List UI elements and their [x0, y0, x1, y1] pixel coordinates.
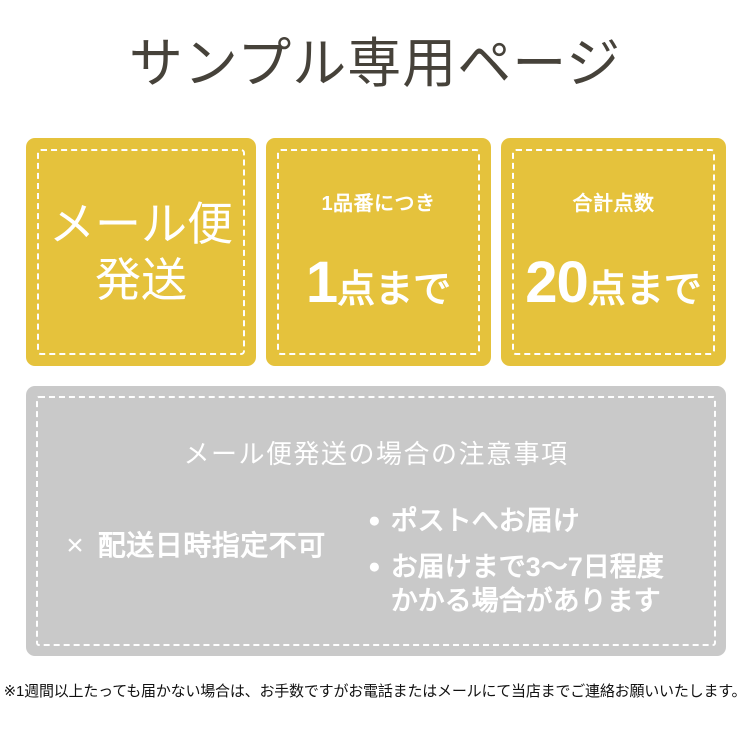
- card-shipping-method: メール便 発送: [26, 138, 256, 366]
- notice-bullet-list: ● ポストへお届け ● お届けまで3〜7日程度 かかる場合があります: [366, 504, 726, 618]
- notice-panel-title: メール便発送の場合の注意事項: [26, 438, 726, 470]
- bullet-dot-icon: ●: [368, 550, 381, 584]
- card-shipping-method-line2: 発送: [49, 252, 233, 308]
- card-total-limit-number: 20: [525, 254, 588, 312]
- notice-restriction-text: 配送日時指定不可: [98, 529, 326, 563]
- card-per-item-limit-heading: 1品番につき: [321, 192, 435, 216]
- card-total-limit-amount: 20 点まで: [525, 254, 702, 312]
- notice-bullet-text: お届けまで3〜7日程度 かかる場合があります: [391, 550, 664, 618]
- card-per-item-limit-amount: 1 点まで: [306, 254, 451, 312]
- notice-bullet-text: ポストへお届け: [391, 504, 580, 538]
- notice-bullet-line1: ポストへお届け: [391, 506, 580, 536]
- notice-bullet-line2: かかる場合があります: [391, 584, 664, 618]
- card-per-item-limit-unit: 点まで: [337, 271, 451, 309]
- notice-panel-body: × 配送日時指定不可 ● ポストへお届け ● お届けまで3〜7日程度 かかる場合…: [26, 504, 726, 618]
- info-cards-row: メール便 発送 1品番につき 1 点まで 合計点数 20 点まで: [26, 138, 726, 366]
- sample-shipping-banner: サンプル専用ページ メール便 発送 1品番につき 1 点まで 合計点数 20 点…: [0, 0, 750, 750]
- card-per-item-limit-number: 1: [306, 254, 337, 312]
- x-mark-icon: ×: [66, 531, 84, 561]
- card-total-limit-unit: 点まで: [588, 271, 702, 309]
- bullet-dot-icon: ●: [368, 504, 381, 538]
- card-total-limit-heading: 合計点数: [573, 192, 655, 216]
- card-shipping-method-line1: メール便: [49, 198, 233, 250]
- card-per-item-limit: 1品番につき 1 点まで: [266, 138, 491, 366]
- notice-panel: メール便発送の場合の注意事項 × 配送日時指定不可 ● ポストへお届け ● お届…: [26, 386, 726, 656]
- card-shipping-method-text: メール便 発送: [49, 196, 233, 308]
- footer-note: ※1週間以上たっても届かない場合は、お手数ですがお電話またはメールにて当店までご…: [0, 682, 750, 702]
- page-title: サンプル専用ページ: [0, 33, 750, 95]
- notice-bullet-line1: お届けまで3〜7日程度: [391, 552, 664, 582]
- card-total-limit: 合計点数 20 点まで: [501, 138, 726, 366]
- notice-restriction: × 配送日時指定不可: [26, 504, 366, 563]
- notice-bullet-item: ● ポストへお届け: [368, 504, 726, 538]
- notice-bullet-item: ● お届けまで3〜7日程度 かかる場合があります: [368, 550, 726, 618]
